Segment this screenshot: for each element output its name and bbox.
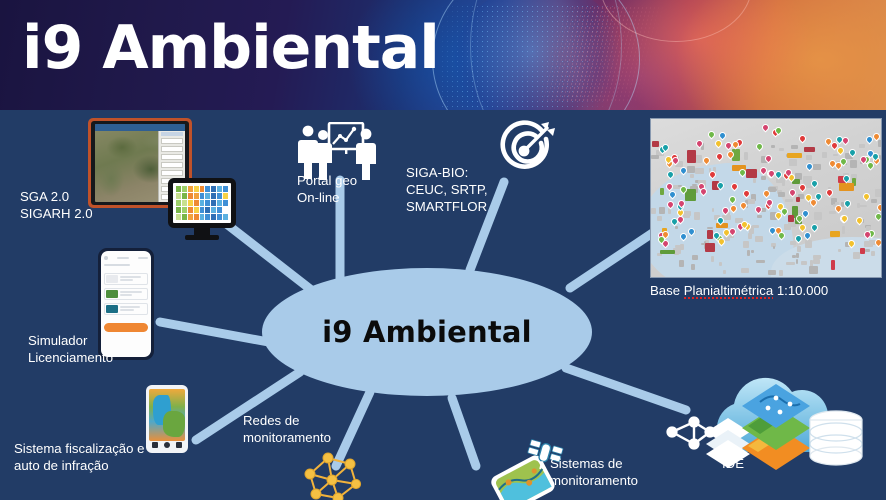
map-block	[813, 259, 820, 265]
map-block	[771, 145, 775, 148]
map-block	[842, 226, 845, 234]
map-block	[748, 233, 752, 239]
chart-cell	[194, 186, 199, 192]
map-pin	[718, 130, 728, 140]
label-ide: IDE	[722, 455, 744, 472]
map-block	[741, 268, 748, 274]
map-block	[719, 262, 722, 266]
map-pin	[825, 187, 835, 197]
map-block	[761, 176, 766, 180]
map-building	[831, 260, 836, 270]
map-block	[768, 270, 776, 275]
diagram-area: i9 Ambiental	[0, 110, 886, 500]
chart-cell	[188, 200, 193, 206]
map-block	[791, 145, 797, 150]
map-building	[839, 183, 854, 191]
map-block	[711, 256, 715, 261]
map-block	[813, 164, 821, 170]
map-block	[651, 155, 659, 159]
chart-cell	[205, 207, 210, 213]
map-block	[695, 168, 704, 175]
map-block	[805, 240, 812, 247]
label-redes: Redes de monitoramento	[243, 412, 331, 446]
map-pin	[754, 141, 764, 151]
base-misspelled-word: Planialtimétrica	[684, 283, 773, 299]
map-block	[814, 212, 823, 220]
monitor-chart-icon	[168, 178, 236, 240]
chart-cell	[176, 193, 181, 199]
cloud-layers-database-icon	[660, 360, 876, 490]
label-sistemas: Sistemas de monitoramento	[550, 455, 638, 489]
chart-cell	[205, 200, 210, 206]
map-block	[811, 268, 815, 273]
map-block	[865, 249, 870, 252]
map-building	[796, 197, 800, 202]
map-block	[779, 148, 783, 152]
chart-cell	[188, 186, 193, 192]
chart-cell	[217, 186, 222, 192]
page-title: i9 Ambiental	[22, 18, 439, 78]
chart-cell	[211, 200, 216, 206]
map-block	[871, 199, 877, 204]
map-block	[756, 260, 765, 263]
map-block	[675, 226, 678, 229]
map-block	[850, 160, 857, 168]
map-block	[690, 174, 694, 178]
label-portal-geo: Portal geo On-line	[297, 172, 357, 206]
map-block	[723, 270, 726, 274]
map-pin	[760, 123, 770, 133]
map-pin	[702, 155, 712, 165]
map-block	[878, 140, 882, 147]
label-base-planialtimetrica: Base Planialtimétrica 1:10.000	[650, 282, 828, 299]
map-block	[859, 205, 867, 207]
chart-cell	[194, 214, 199, 220]
map-building	[830, 231, 840, 237]
map-block	[747, 250, 750, 256]
map-block	[757, 215, 763, 218]
map-building	[660, 250, 675, 254]
map-block	[871, 251, 875, 256]
chart-cell	[200, 214, 205, 220]
map-block	[657, 216, 662, 220]
map-block	[712, 208, 714, 212]
map-block	[752, 225, 759, 228]
map-block	[687, 166, 695, 174]
chart-cell	[200, 186, 205, 192]
map-block	[806, 155, 812, 160]
target-dart-icon	[497, 120, 555, 178]
chart-cell	[182, 200, 187, 206]
map-pin	[875, 203, 882, 213]
chart-cell	[217, 200, 222, 206]
map-building	[804, 147, 814, 152]
map-pin	[714, 151, 724, 161]
map-block	[784, 224, 791, 230]
map-building	[660, 188, 664, 195]
map-pin	[874, 212, 882, 222]
map-block	[853, 252, 860, 259]
map-pin	[862, 192, 872, 202]
map-block	[753, 178, 756, 183]
map-block	[796, 259, 799, 264]
map-block	[801, 261, 807, 265]
map-building	[652, 141, 659, 147]
chart-cell	[176, 186, 181, 192]
map-block	[675, 245, 682, 247]
map-block	[744, 152, 749, 159]
chart-cell	[194, 200, 199, 206]
map-block	[692, 255, 698, 260]
chart-cell	[217, 214, 222, 220]
map-block	[790, 241, 796, 246]
map-building	[746, 169, 757, 178]
tablet-map-icon	[146, 385, 188, 453]
map-block	[785, 199, 792, 202]
map-block	[829, 211, 836, 215]
base-prefix: Base	[650, 283, 684, 298]
map-building	[705, 243, 715, 252]
map-block	[659, 207, 666, 215]
label-sga: SGA 2.0 SIGARH 2.0	[20, 188, 93, 222]
chart-cell	[182, 186, 187, 192]
label-fiscalizacao: Sistema fiscalização e auto de infração	[14, 440, 144, 474]
label-simulador: Simulador Licenciamento	[28, 332, 113, 366]
chart-cell	[217, 193, 222, 199]
chart-cell	[182, 207, 187, 213]
chart-cell	[223, 207, 228, 213]
network-graph-icon	[298, 448, 366, 500]
map-block	[751, 250, 754, 253]
chart-cell	[223, 214, 228, 220]
chart-cell	[200, 207, 205, 213]
map-block	[779, 270, 782, 276]
chart-cell	[182, 214, 187, 220]
map-pin	[855, 216, 865, 226]
map-block	[857, 203, 860, 208]
central-hub: i9 Ambiental	[262, 268, 592, 396]
chart-cell	[188, 214, 193, 220]
base-suffix: 1:10.000	[773, 283, 828, 298]
chart-cell	[223, 193, 228, 199]
chart-cell	[205, 193, 210, 199]
chart-cell	[182, 193, 187, 199]
map-block	[755, 236, 763, 242]
map-building	[687, 150, 697, 163]
chart-cell	[211, 207, 216, 213]
map-block	[796, 253, 799, 258]
chart-cell	[188, 193, 193, 199]
map-block	[743, 241, 749, 247]
chart-cell	[200, 193, 205, 199]
label-siga-bio: SIGA-BIO: CEUC, SRTP, SMARTFLOR	[406, 164, 488, 215]
map-building	[787, 153, 802, 158]
slide-canvas: i9 Ambiental i9 Ambiental	[0, 0, 886, 500]
map-block	[786, 262, 795, 265]
map-block	[859, 144, 864, 148]
map-building	[860, 248, 866, 255]
map-pin	[803, 230, 813, 240]
map-block	[838, 249, 842, 251]
chart-cell	[211, 214, 216, 220]
chart-cell	[194, 207, 199, 213]
map-pin	[843, 199, 853, 209]
chart-cell	[205, 186, 210, 192]
map-block	[691, 264, 695, 270]
map-block	[822, 152, 828, 158]
map-block	[813, 255, 821, 259]
chart-cell	[223, 186, 228, 192]
map-pin	[706, 130, 716, 140]
map-block	[707, 227, 713, 230]
map-pin	[809, 223, 819, 233]
hub-label: i9 Ambiental	[322, 315, 532, 349]
map-block	[833, 154, 839, 157]
map-block	[679, 260, 684, 267]
chart-cell	[200, 200, 205, 206]
header-banner: i9 Ambiental	[0, 0, 886, 110]
map-block	[651, 208, 655, 214]
chart-cell	[211, 186, 216, 192]
map-block	[778, 192, 786, 198]
map-block	[694, 212, 700, 220]
map-block	[773, 246, 775, 249]
city-map-image	[650, 118, 882, 278]
chart-cell	[211, 193, 216, 199]
map-block	[793, 164, 797, 167]
map-block	[797, 246, 801, 252]
chart-cell	[176, 207, 181, 213]
chart-cell	[176, 214, 181, 220]
database-cylinder	[810, 411, 862, 465]
chart-cell	[223, 200, 228, 206]
map-building	[788, 215, 795, 222]
chart-cell	[194, 193, 199, 199]
map-pin	[798, 134, 808, 144]
chart-cell	[205, 214, 210, 220]
chart-cell	[188, 207, 193, 213]
chart-cell	[176, 200, 181, 206]
map-block	[875, 189, 881, 196]
chart-cell	[217, 207, 222, 213]
